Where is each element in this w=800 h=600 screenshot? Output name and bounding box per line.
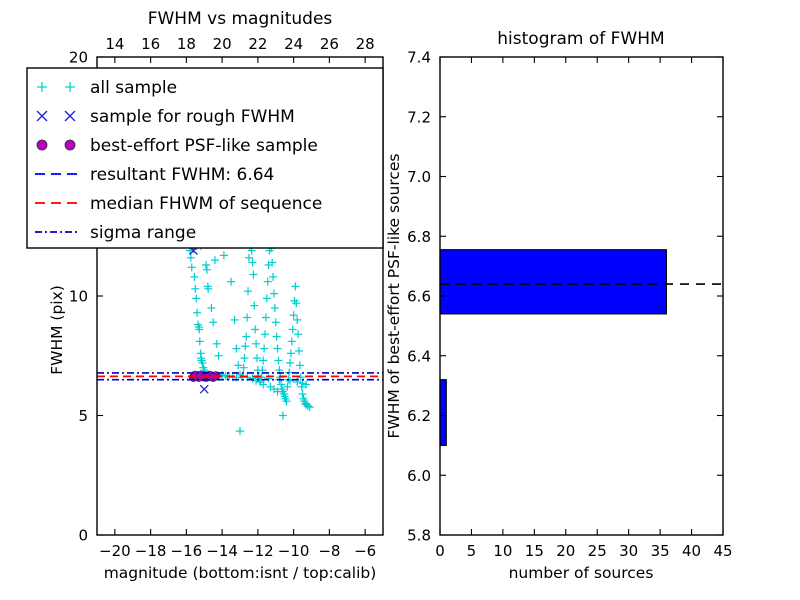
right-xticklabel: 15 <box>525 542 544 560</box>
scatter-point-circle <box>37 140 47 150</box>
right-yticklabel: 5.8 <box>407 527 431 545</box>
left-yaxis-label: FWHM (pix) <box>48 285 66 375</box>
right-panel-title: histogram of FWHM <box>497 29 664 49</box>
right-yticklabel: 6.2 <box>407 407 431 425</box>
right-yticklabel: 6.6 <box>407 288 431 306</box>
right-yticklabel: 7.4 <box>407 49 431 67</box>
right-xticklabel: 35 <box>651 542 670 560</box>
matplotlib-figure: −20−18−16−14−12−10−8−6141618202224262805… <box>0 0 800 600</box>
right-xticklabel: 25 <box>588 542 607 560</box>
left-xticklabel-bottom: −16 <box>171 542 203 560</box>
left-xticklabel-top: 16 <box>141 35 160 53</box>
left-xticklabel-top: 22 <box>248 35 267 53</box>
right-xaxis-label: number of sources <box>509 564 654 582</box>
right-xticklabel: 20 <box>556 542 575 560</box>
legend-label-4: median FHWM of sequence <box>90 194 322 214</box>
right-xticklabel: 5 <box>467 542 477 560</box>
histogram-bar <box>440 250 666 314</box>
right-xticklabel: 0 <box>435 542 445 560</box>
left-xticklabel-top: 20 <box>213 35 232 53</box>
left-xticklabel-bottom: −14 <box>206 542 238 560</box>
legend-label-5: sigma range <box>90 223 196 243</box>
left-yticklabel: 5 <box>78 407 88 425</box>
left-xticklabel-top: 14 <box>105 35 124 53</box>
left-xticklabel-bottom: −6 <box>354 542 376 560</box>
legend-label-0: all sample <box>90 78 177 98</box>
right-yticklabel: 6.8 <box>407 228 431 246</box>
left-xaxis-label: magnitude (bottom:isnt / top:calib) <box>104 564 377 582</box>
legend: all samplesample for rough FWHMbest-effo… <box>27 68 383 248</box>
left-xticklabel-bottom: −8 <box>318 542 340 560</box>
right-xticklabel: 45 <box>713 542 732 560</box>
left-xticklabel-top: 28 <box>356 35 375 53</box>
right-yticklabel: 6.0 <box>407 467 431 485</box>
left-xticklabel-bottom: −20 <box>99 542 131 560</box>
legend-label-3: resultant FWHM: 6.64 <box>90 165 274 185</box>
left-xticklabel-top: 24 <box>284 35 303 53</box>
left-yticklabel: 0 <box>78 527 88 545</box>
right-yticklabel: 7.0 <box>407 168 431 186</box>
left-xticklabel-bottom: −12 <box>242 542 274 560</box>
left-xticklabel-top: 18 <box>177 35 196 53</box>
right-xticklabel: 40 <box>682 542 701 560</box>
right-yticklabel: 6.4 <box>407 347 431 365</box>
legend-label-2: best-effort PSF-like sample <box>90 136 318 156</box>
right-yticklabel: 7.2 <box>407 108 431 126</box>
left-panel-title: FWHM vs magnitudes <box>148 9 333 29</box>
right-yaxis-label: FWHM of best-effort PSF-like sources <box>385 153 403 438</box>
right-xticklabel: 30 <box>619 542 638 560</box>
figure-canvas: −20−18−16−14−12−10−8−6141618202224262805… <box>0 0 800 600</box>
left-xticklabel-bottom: −10 <box>278 542 310 560</box>
left-yticklabel: 10 <box>69 288 88 306</box>
legend-label-1: sample for rough FWHM <box>90 107 295 127</box>
scatter-point-circle <box>65 140 75 150</box>
histogram-bar <box>440 380 446 446</box>
right-xticklabel: 10 <box>493 542 512 560</box>
left-xticklabel-bottom: −18 <box>135 542 167 560</box>
left-xticklabel-top: 26 <box>320 35 339 53</box>
legend-box <box>27 68 383 248</box>
left-yticklabel: 20 <box>69 49 88 67</box>
